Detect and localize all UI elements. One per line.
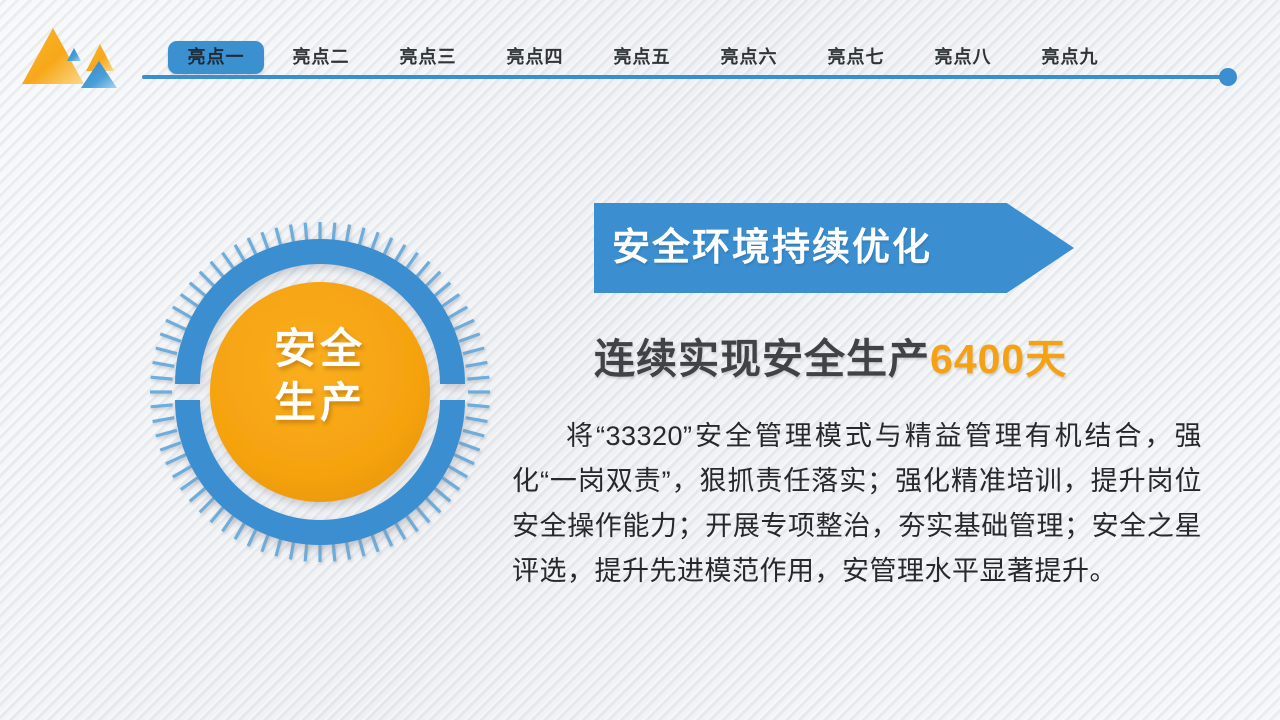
nav-tab-3[interactable]: 亮点三 (380, 41, 476, 74)
nav-tab-2[interactable]: 亮点二 (273, 41, 369, 74)
nav-tab-8[interactable]: 亮点八 (915, 41, 1011, 74)
triangles-logo (18, 22, 138, 88)
headline: 连续实现安全生产6400天 (594, 325, 1194, 385)
section-banner: 安全环境持续优化 (594, 203, 1074, 293)
body-paragraph: 将“33320”安全管理模式与精益管理有机结合，强化“一岗双责”，狠抓责任落实；… (512, 414, 1202, 594)
nav-tab-7[interactable]: 亮点七 (808, 41, 904, 74)
banner-title: 安全环境持续优化 (612, 203, 932, 293)
nav-tab-1[interactable]: 亮点一 (168, 41, 264, 74)
nav-underline-end-dot (1219, 68, 1237, 86)
nav-tab-6[interactable]: 亮点六 (701, 41, 797, 74)
nav-tab-5[interactable]: 亮点五 (594, 41, 690, 74)
headline-prefix: 连续实现安全生产 (594, 336, 930, 382)
nav-underline-rule (142, 75, 1230, 79)
nav-tab-4[interactable]: 亮点四 (487, 41, 583, 74)
headline-accent-value: 6400天 (930, 336, 1067, 382)
header-bar: 亮点一 亮点二 亮点三 亮点四 亮点五 亮点六 亮点七 亮点八 亮点九 (0, 0, 1280, 105)
slide-canvas: 亮点一 亮点二 亮点三 亮点四 亮点五 亮点六 亮点七 亮点八 亮点九 (0, 0, 1280, 720)
nav-tab-9[interactable]: 亮点九 (1022, 41, 1118, 74)
safety-production-emblem: 安全 生产 (140, 212, 500, 572)
